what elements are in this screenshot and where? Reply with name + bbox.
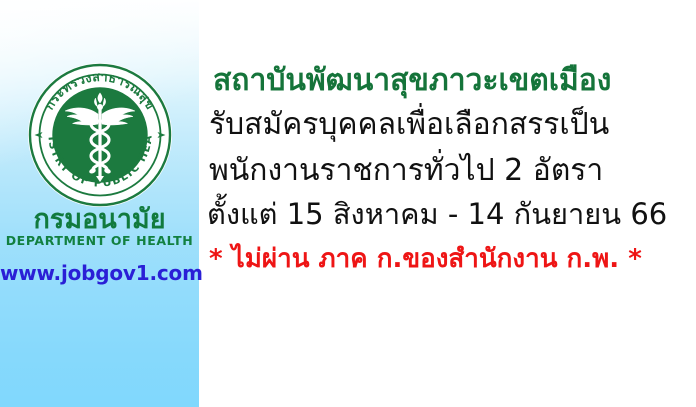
department-name-english: DEPARTMENT OF HEALTH bbox=[0, 235, 199, 248]
announcement-panel: สถาบันพัฒนาสุขภาวะเขตเมือง รับสมัครบุคคล… bbox=[199, 0, 696, 407]
announcement-organization-name: สถาบันพัฒนาสุขภาวะเขตเมือง bbox=[205, 66, 696, 110]
department-name-thai: กรมอนามัย bbox=[0, 206, 199, 233]
announcement-position-line: พนักงานราชการทั่วไป 2 อัตรา bbox=[205, 156, 696, 200]
announcement-lines: สถาบันพัฒนาสุขภาวะเขตเมือง รับสมัครบุคคล… bbox=[205, 66, 696, 286]
announcement-date-range: ตั้งแต่ 15 สิงหาคม - 14 กันยายน 66 bbox=[205, 200, 696, 246]
job-announcement-poster: กระทรวงสาธารณสุข MINISTRY OF PUBLIC HEAL… bbox=[0, 0, 696, 407]
announcement-recruitment-line: รับสมัครบุคคลเพื่อเลือกสรรเป็น bbox=[205, 110, 696, 156]
ministry-of-public-health-seal-icon: กระทรวงสาธารณสุข MINISTRY OF PUBLIC HEAL… bbox=[27, 62, 173, 208]
website-url[interactable]: www.jobgov1.com bbox=[0, 263, 199, 283]
announcement-exemption-note: * ไม่ผ่าน ภาค ก.ของสำนักงาน ก.พ. * bbox=[205, 246, 696, 286]
